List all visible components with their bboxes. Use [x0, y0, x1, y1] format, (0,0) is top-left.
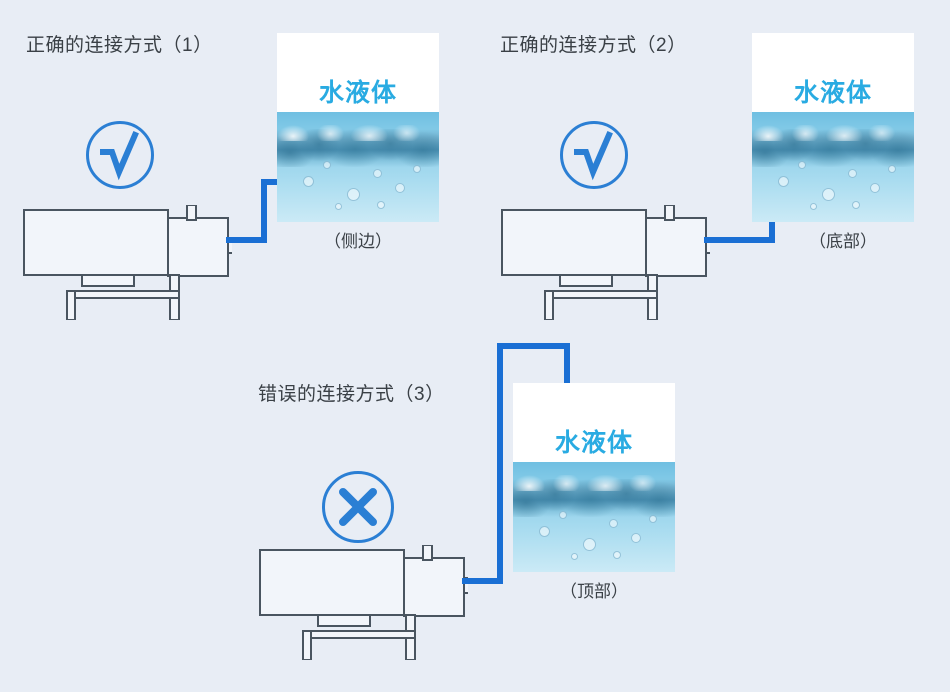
diagram-canvas: 正确的连接方式（1）	[0, 0, 950, 692]
water-tile-label: 水液体	[752, 81, 914, 106]
panel-2-title: 正确的连接方式（2）	[500, 36, 687, 55]
water-tile-label: 水液体	[277, 81, 439, 106]
pump-unit-icon	[500, 205, 710, 320]
panel-2-tile-caption: （底部）	[762, 233, 924, 250]
water-tile-label: 水液体	[513, 431, 675, 456]
panel-3-tile-caption: （顶部）	[513, 583, 675, 600]
pump-unit-icon	[258, 545, 468, 660]
pump-unit-icon	[22, 205, 232, 320]
check-circle-icon	[560, 121, 628, 189]
panel-1-title: 正确的连接方式（1）	[26, 36, 213, 55]
check-circle-icon	[86, 121, 154, 189]
cross-circle-icon	[322, 471, 394, 543]
water-tank-icon: 水液体	[277, 33, 439, 222]
panel-3-title: 错误的连接方式（3）	[258, 385, 445, 404]
water-tank-icon: 水液体	[513, 383, 675, 572]
panel-1-tile-caption: （侧边）	[277, 233, 439, 250]
water-tank-icon: 水液体	[752, 33, 914, 222]
